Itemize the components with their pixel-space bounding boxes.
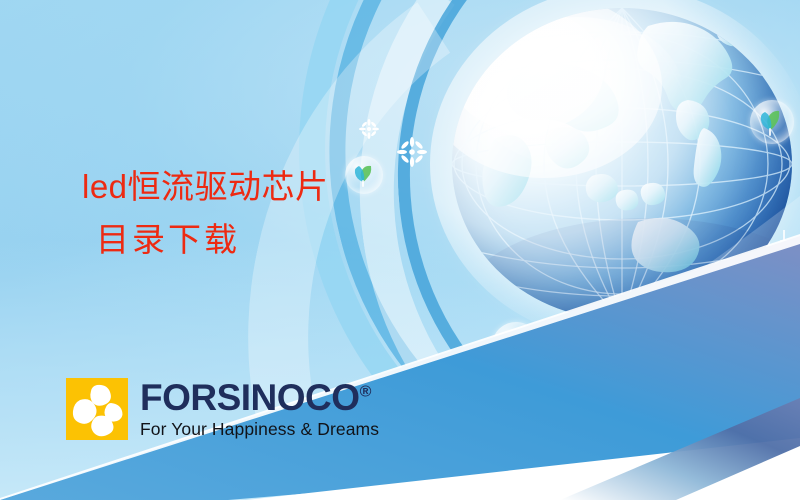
headline-line-1: led恒流驱动芯片: [82, 160, 482, 213]
logo-wordmark: FORSINOCO®: [140, 379, 379, 416]
forsinoco-pinwheel-mark-icon: [66, 378, 128, 440]
headline-line-2: 目录下载: [82, 213, 482, 266]
logo-text-block: FORSINOCO® For Your Happiness & Dreams: [140, 378, 379, 441]
promo-banner: led恒流驱动芯片 目录下载 FORSINOCO® For Your Happi…: [0, 0, 800, 500]
headline: led恒流驱动芯片 目录下载: [82, 160, 482, 267]
registered-trademark-icon: ®: [360, 384, 372, 401]
logo-wordmark-text: FORSINOCO: [140, 377, 360, 418]
forsinoco-logo: FORSINOCO® For Your Happiness & Dreams: [66, 378, 379, 441]
logo-tagline: For Your Happiness & Dreams: [140, 419, 379, 441]
